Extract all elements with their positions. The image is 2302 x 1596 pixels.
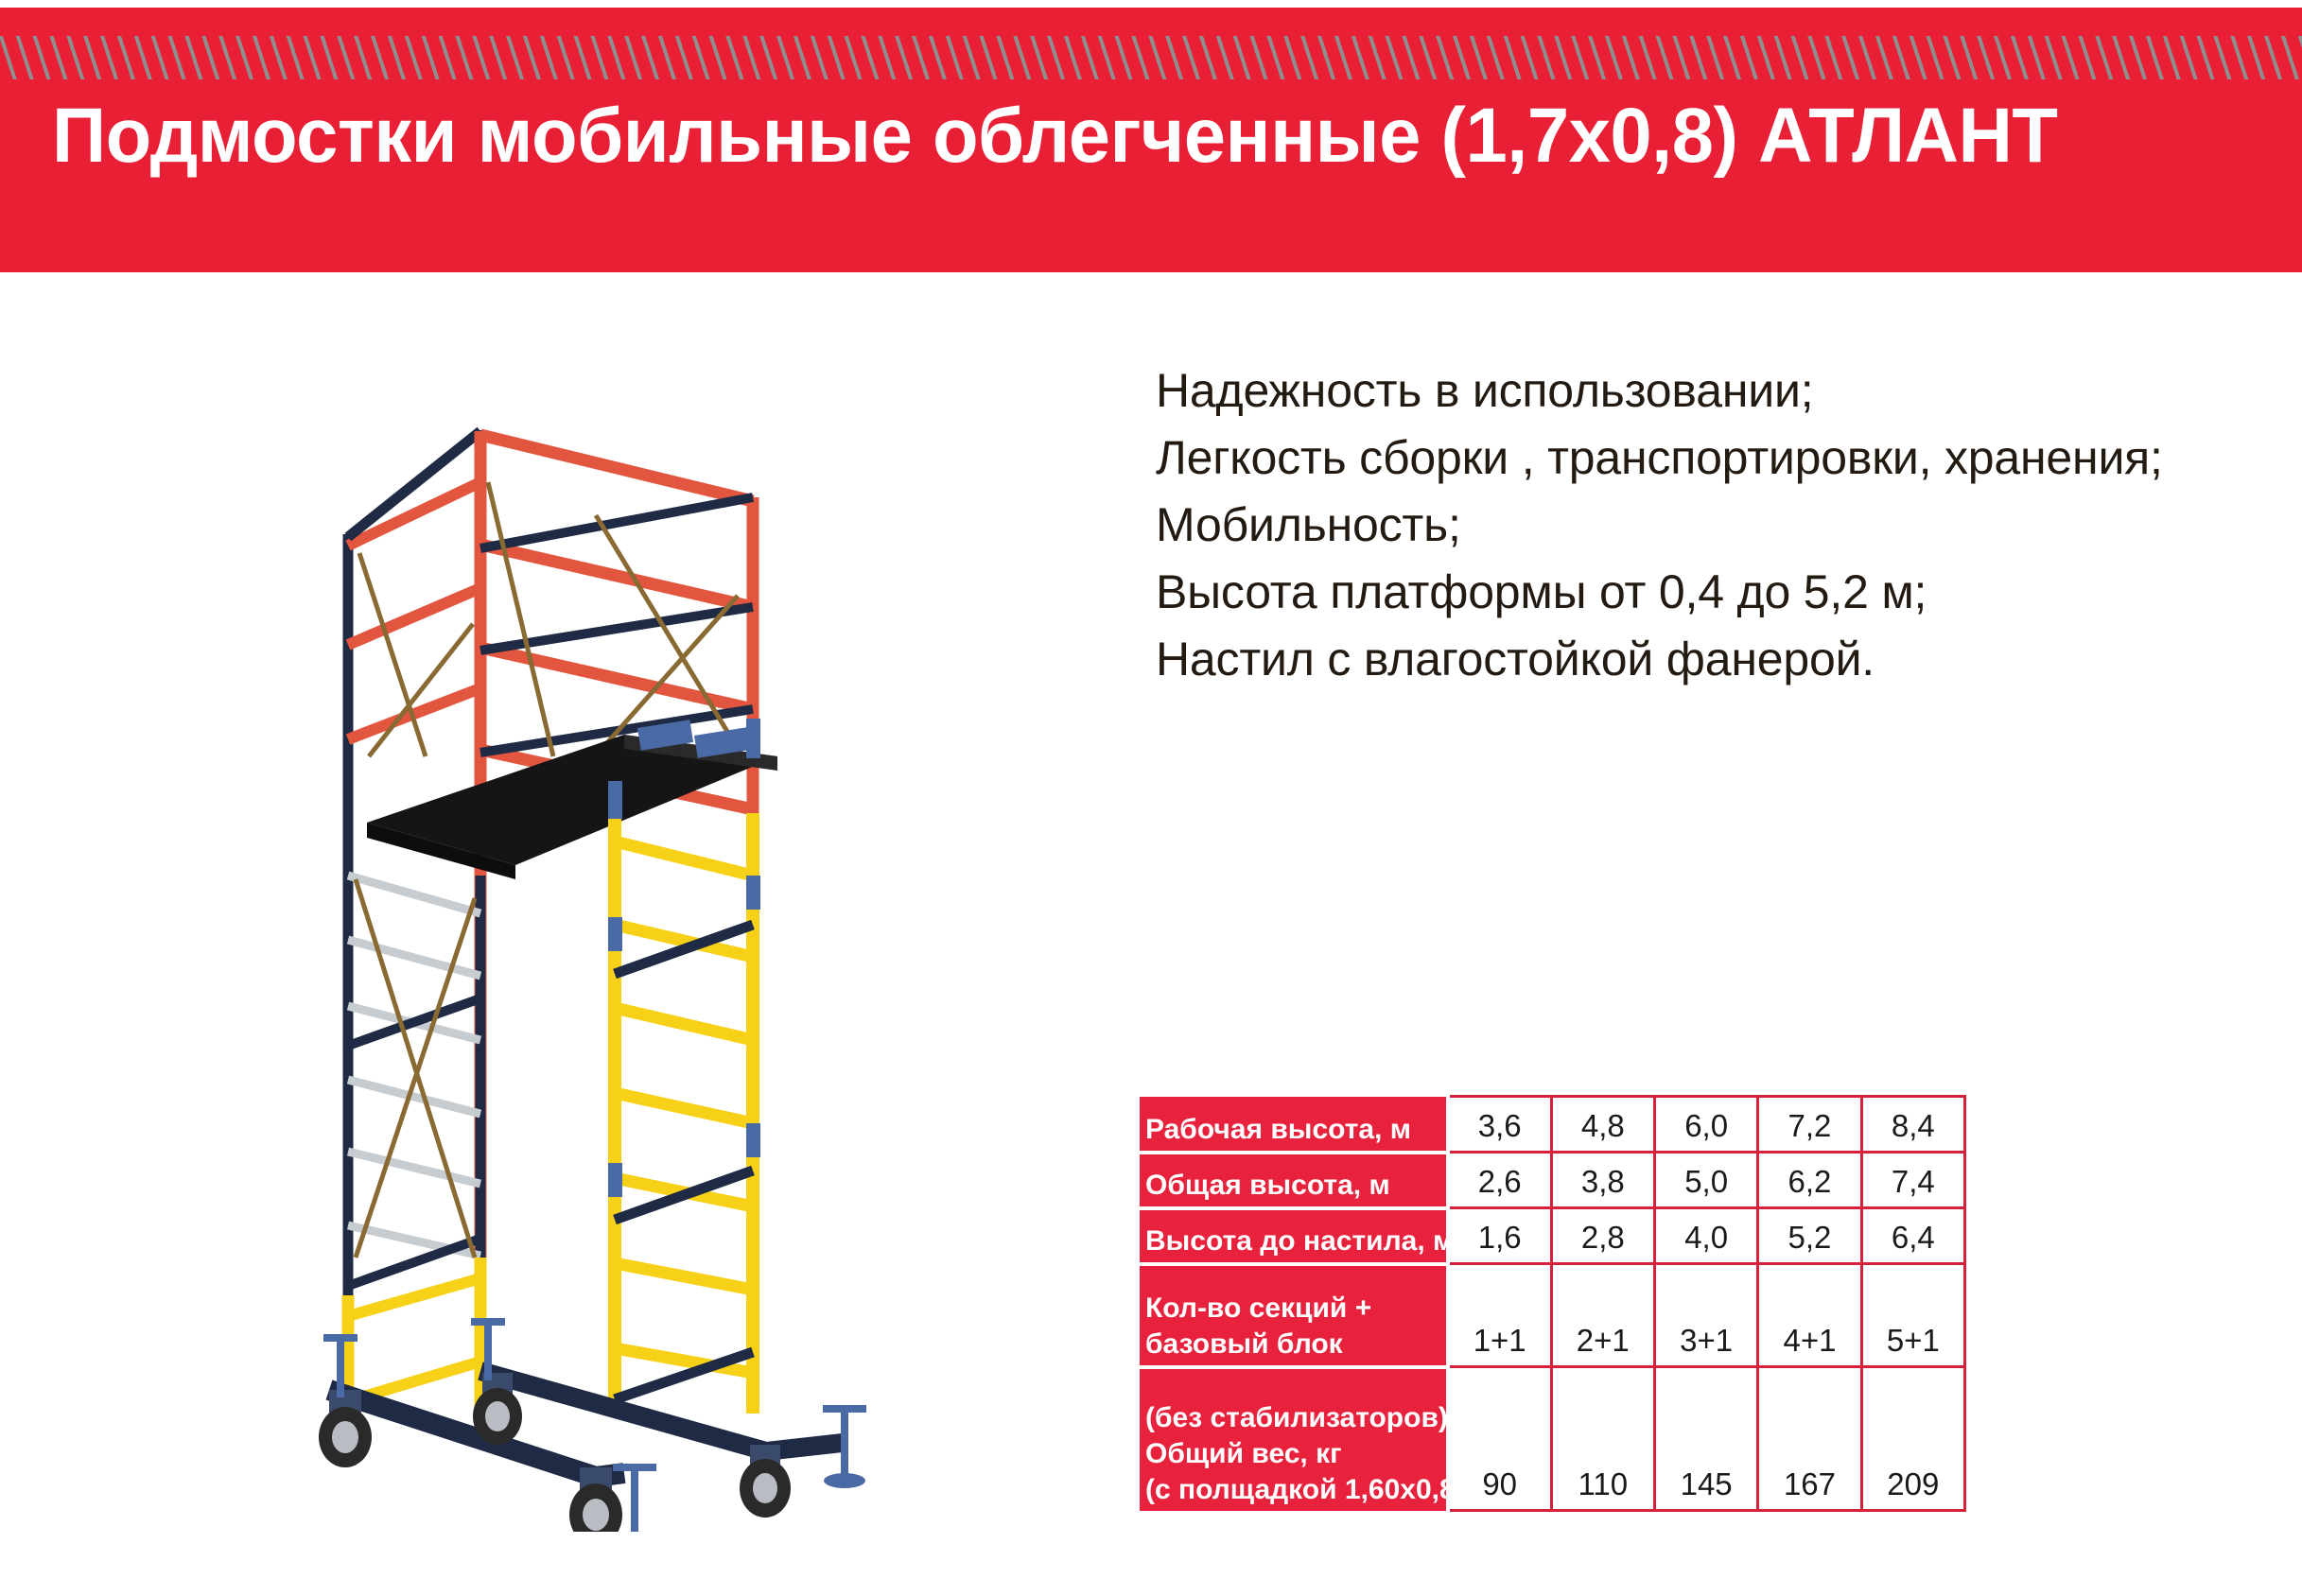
- row-label-line: (без стабилизаторов): [1145, 1400, 1446, 1436]
- table-cell: 1,6: [1448, 1208, 1551, 1264]
- row-label: Общая высота, м: [1140, 1153, 1448, 1208]
- table-cell: 8,4: [1861, 1097, 1964, 1153]
- table-cell: 4,8: [1551, 1097, 1654, 1153]
- feature-item: Надежность в использовании;: [1156, 357, 2253, 425]
- row-label-line: (с полщадкой 1,60х0,8): [1145, 1472, 1446, 1508]
- header-banner: Подмостки мобильные облегченные (1,7х0,8…: [0, 8, 2302, 272]
- table-cell: 2,6: [1448, 1153, 1551, 1208]
- table-row: Общая высота, м 2,6 3,8 5,0 6,2 7,4: [1140, 1153, 1965, 1208]
- table-cell: 3,6: [1448, 1097, 1551, 1153]
- table-row: Рабочая высота, м 3,6 4,8 6,0 7,2 8,4: [1140, 1097, 1965, 1153]
- row-label: Высота до настила, м: [1140, 1208, 1448, 1264]
- feature-item: Легкость сборки , транспортировки, хране…: [1156, 425, 2253, 492]
- feature-item: Настил с влагостойкой фанерой.: [1156, 626, 2253, 693]
- row-label: Рабочая высота, м: [1140, 1097, 1448, 1153]
- product-photo-scaffolding-tower: [312, 312, 974, 1532]
- table-cell: 5,2: [1758, 1208, 1861, 1264]
- scaffolding-illustration: [312, 312, 974, 1532]
- table-cell: 4,0: [1654, 1208, 1757, 1264]
- table-cell: 145: [1654, 1367, 1757, 1511]
- table-cell: 3,8: [1551, 1153, 1654, 1208]
- row-label-line: Кол-во секций +: [1145, 1291, 1446, 1327]
- table-cell: 7,4: [1861, 1153, 1964, 1208]
- table-cell: 6,0: [1654, 1097, 1757, 1153]
- table-cell: 5+1: [1861, 1264, 1964, 1367]
- table-cell: 2,8: [1551, 1208, 1654, 1264]
- row-label: (без стабилизаторов) Общий вес, кг (с по…: [1140, 1367, 1448, 1511]
- feature-item: Мобильность;: [1156, 492, 2253, 559]
- table-row: Высота до настила, м 1,6 2,8 4,0 5,2 6,4: [1140, 1208, 1965, 1264]
- table-cell: 209: [1861, 1367, 1964, 1511]
- specifications-table: Рабочая высота, м 3,6 4,8 6,0 7,2 8,4 Об…: [1140, 1095, 1966, 1512]
- diagonal-hatch-decoration: [0, 36, 2302, 79]
- table-cell: 6,2: [1758, 1153, 1861, 1208]
- table-cell: 5,0: [1654, 1153, 1757, 1208]
- table-cell: 7,2: [1758, 1097, 1861, 1153]
- row-label: Кол-во секций + базовый блок: [1140, 1264, 1448, 1367]
- table-cell: 1+1: [1448, 1264, 1551, 1367]
- table-cell: 3+1: [1654, 1264, 1757, 1367]
- row-label-line: Общий вес, кг: [1145, 1436, 1446, 1472]
- row-label-line: Рабочая высота, м: [1145, 1114, 1411, 1145]
- row-label-line: Высота до настила, м: [1145, 1225, 1454, 1257]
- page-title: Подмостки мобильные облегченные (1,7х0,8…: [52, 89, 2189, 183]
- table-cell: 167: [1758, 1367, 1861, 1511]
- row-label-line: базовый блок: [1145, 1327, 1446, 1362]
- feature-list: Надежность в использовании; Легкость сбо…: [1156, 357, 2253, 693]
- table-cell: 2+1: [1551, 1264, 1654, 1367]
- table-row: (без стабилизаторов) Общий вес, кг (с по…: [1140, 1367, 1965, 1511]
- feature-item: Высота платформы от 0,4 до 5,2 м;: [1156, 559, 2253, 626]
- row-label-line: Общая высота, м: [1145, 1170, 1390, 1201]
- table-cell: 110: [1551, 1367, 1654, 1511]
- table-cell: 6,4: [1861, 1208, 1964, 1264]
- table-cell: 4+1: [1758, 1264, 1861, 1367]
- table-row: Кол-во секций + базовый блок 1+1 2+1 3+1…: [1140, 1264, 1965, 1367]
